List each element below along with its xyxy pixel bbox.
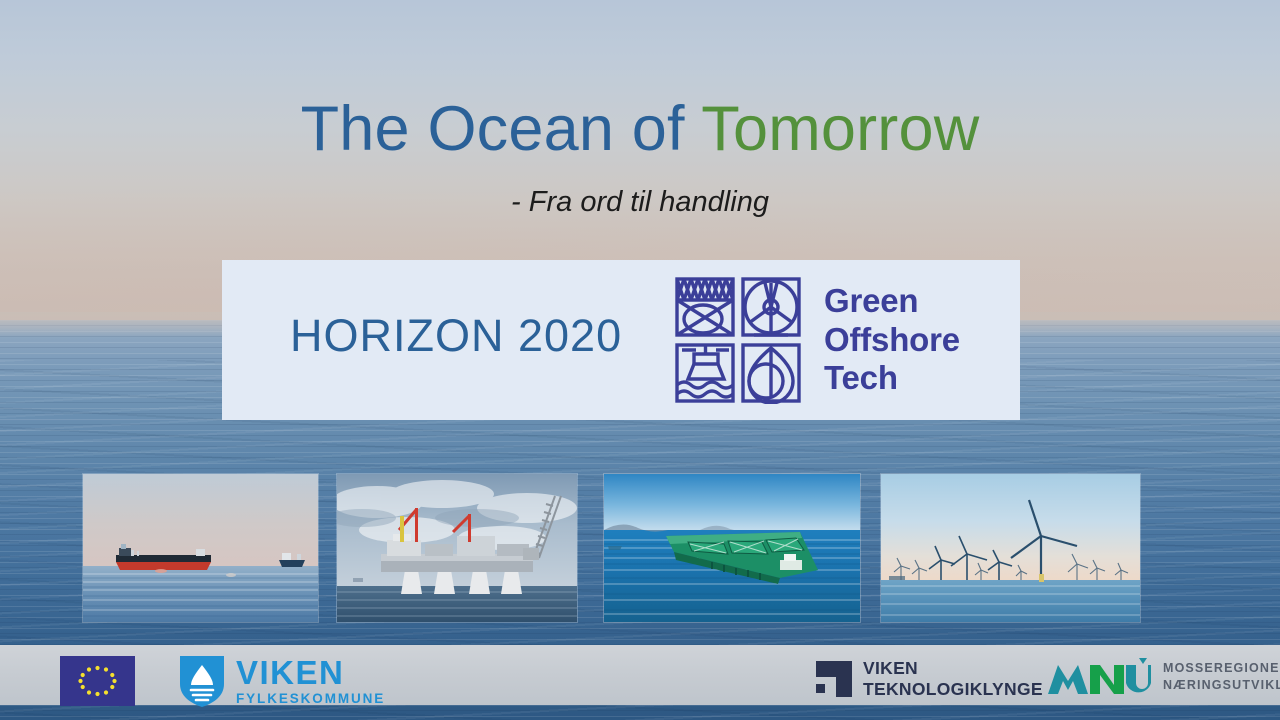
viken-name: VIKEN <box>236 656 385 689</box>
presentation-slide: The Ocean of Tomorrow - Fra ord til hand… <box>0 0 1280 720</box>
cargo-ship-photo <box>83 474 318 622</box>
got-line-3: Tech <box>824 359 960 398</box>
viken-teknologiklynge-logo: VIKEN TEKNOLOGIKLYNGE <box>816 658 1043 701</box>
wind-farm-photo <box>881 474 1140 622</box>
green-offshore-tech-mark <box>674 276 802 404</box>
photo-strip <box>0 474 1280 622</box>
viken-tech-line-2: TEKNOLOGIKLYNGE <box>863 679 1043 700</box>
mnu-line-1: MOSSEREGIONENS <box>1163 660 1280 677</box>
footer-logo-bar: VIKEN FYLKESKOMMUNE VIKEN TEKNOLOGIKLYNG… <box>0 645 1280 705</box>
slide-title: The Ocean of Tomorrow <box>0 96 1280 162</box>
aquaculture-vessel-photo <box>604 474 860 622</box>
green-offshore-tech-wordmark: Green Offshore Tech <box>824 282 960 398</box>
viken-wordmark: VIKEN FYLKESKOMMUNE <box>236 656 385 706</box>
viken-tech-square-icon <box>816 661 852 697</box>
green-offshore-tech-logo: Green Offshore Tech <box>674 276 960 404</box>
eu-flag <box>60 656 135 706</box>
mnu-mark-icon <box>1046 657 1151 697</box>
viken-tech-line-1: VIKEN <box>863 658 1043 679</box>
viken-fylkeskommune-logo: VIKEN FYLKESKOMMUNE <box>178 654 385 708</box>
viken-subtitle: FYLKESKOMMUNE <box>236 692 385 706</box>
slide-title-blue-part: The Ocean of <box>301 94 702 164</box>
viken-tech-wordmark: VIKEN TEKNOLOGIKLYNGE <box>863 658 1043 701</box>
slide-subtitle: - Fra ord til handling <box>0 186 1280 219</box>
programme-panel: HORIZON 2020 <box>222 260 1020 420</box>
horizon-2020-label: HORIZON 2020 <box>290 310 622 362</box>
mnu-line-2: NÆRINGSUTVIKLING <box>1163 677 1280 694</box>
mnu-logo: MOSSEREGIONENS NÆRINGSUTVIKLING <box>1046 657 1280 697</box>
got-line-2: Offshore <box>824 321 960 360</box>
mnu-wordmark: MOSSEREGIONENS NÆRINGSUTVIKLING <box>1163 660 1280 693</box>
viken-shield-icon <box>178 654 226 708</box>
oil-platform-photo <box>337 474 577 622</box>
slide-title-green-part: Tomorrow <box>701 94 979 164</box>
got-line-1: Green <box>824 282 960 321</box>
